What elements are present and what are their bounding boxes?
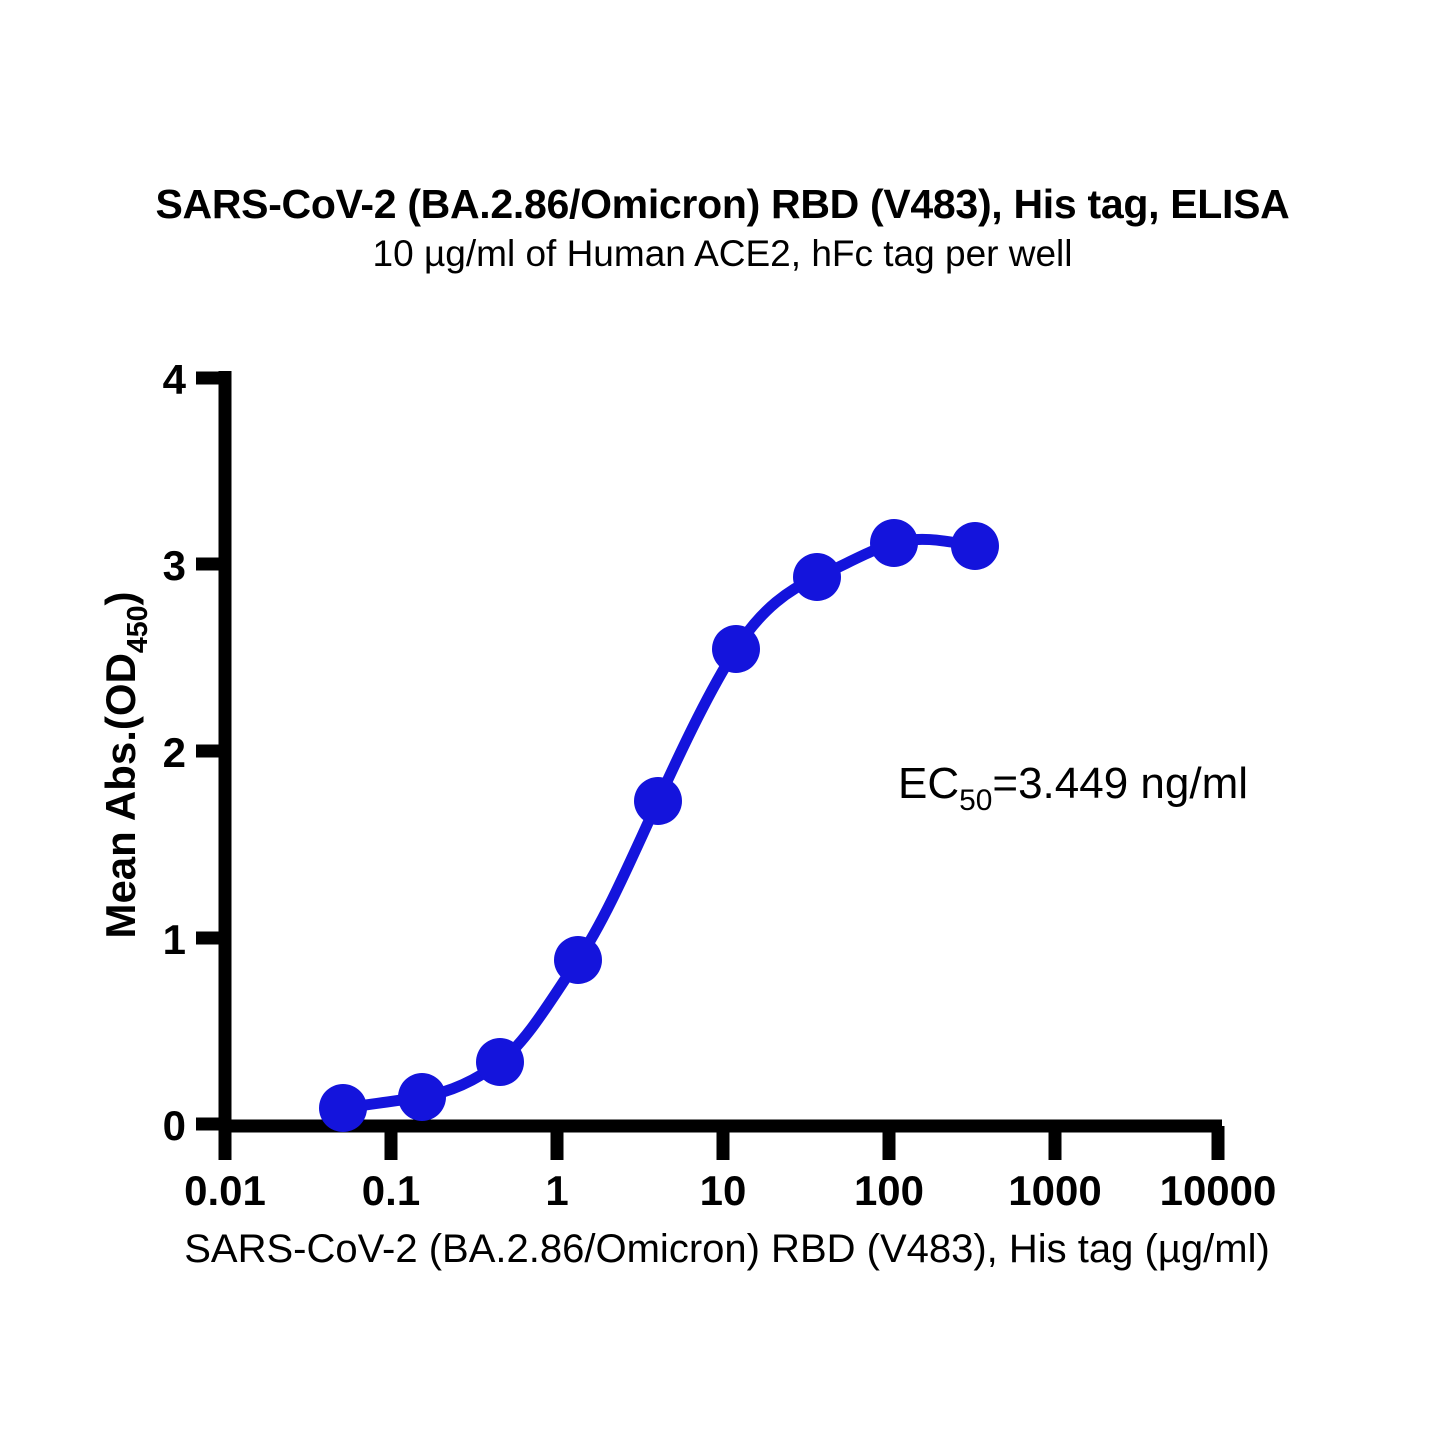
ec50-subscript: 50 xyxy=(959,784,992,817)
y-tick-label-4: 4 xyxy=(163,356,187,403)
y-axis-tick-labels: 4 3 2 1 0 xyxy=(163,356,187,1149)
y-axis-title: Mean Abs.(OD450) xyxy=(97,591,154,938)
y-tick-label-0: 0 xyxy=(163,1102,186,1149)
x-tick-label-1000: 1000 xyxy=(1008,1167,1101,1214)
x-tick-label-0.1: 0.1 xyxy=(362,1167,420,1214)
y-axis-title-close: ) xyxy=(97,591,144,605)
data-point xyxy=(870,519,918,567)
ec50-prefix: EC xyxy=(898,759,959,808)
series-markers xyxy=(319,519,999,1132)
x-tick-label-0.01: 0.01 xyxy=(184,1167,266,1214)
data-point xyxy=(951,522,999,570)
y-tick-label-1: 1 xyxy=(163,916,186,963)
ec50-annotation: EC50=3.449 ng/ml xyxy=(898,759,1248,817)
x-axis-tick-labels: 0.01 0.1 1 10 100 1000 10000 xyxy=(184,1167,1276,1214)
y-tick-label-2: 2 xyxy=(163,729,186,776)
x-tick-label-100: 100 xyxy=(854,1167,924,1214)
x-tick-label-10: 10 xyxy=(700,1167,747,1214)
data-point xyxy=(793,553,841,601)
y-axis-title-sub: 450 xyxy=(122,605,154,653)
data-point xyxy=(476,1038,524,1086)
data-point xyxy=(319,1084,367,1132)
y-tick-label-3: 3 xyxy=(163,542,186,589)
data-point xyxy=(712,625,760,673)
x-tick-label-10000: 10000 xyxy=(1160,1167,1277,1214)
ec50-value: =3.449 ng/ml xyxy=(992,759,1248,808)
x-tick-label-1: 1 xyxy=(545,1167,568,1214)
y-axis-title-main: Mean Abs.(OD xyxy=(97,653,144,938)
plot-area: 4 3 2 1 0 0.01 0.1 1 10 100 1000 10000 xyxy=(0,0,1445,1445)
x-axis-title: SARS-CoV-2 (BA.2.86/Omicron) RBD (V483),… xyxy=(184,1227,1270,1271)
data-point xyxy=(398,1073,446,1121)
data-point xyxy=(554,936,602,984)
data-point xyxy=(634,777,682,825)
elisa-chart-figure: SARS-CoV-2 (BA.2.86/Omicron) RBD (V483),… xyxy=(0,0,1445,1445)
